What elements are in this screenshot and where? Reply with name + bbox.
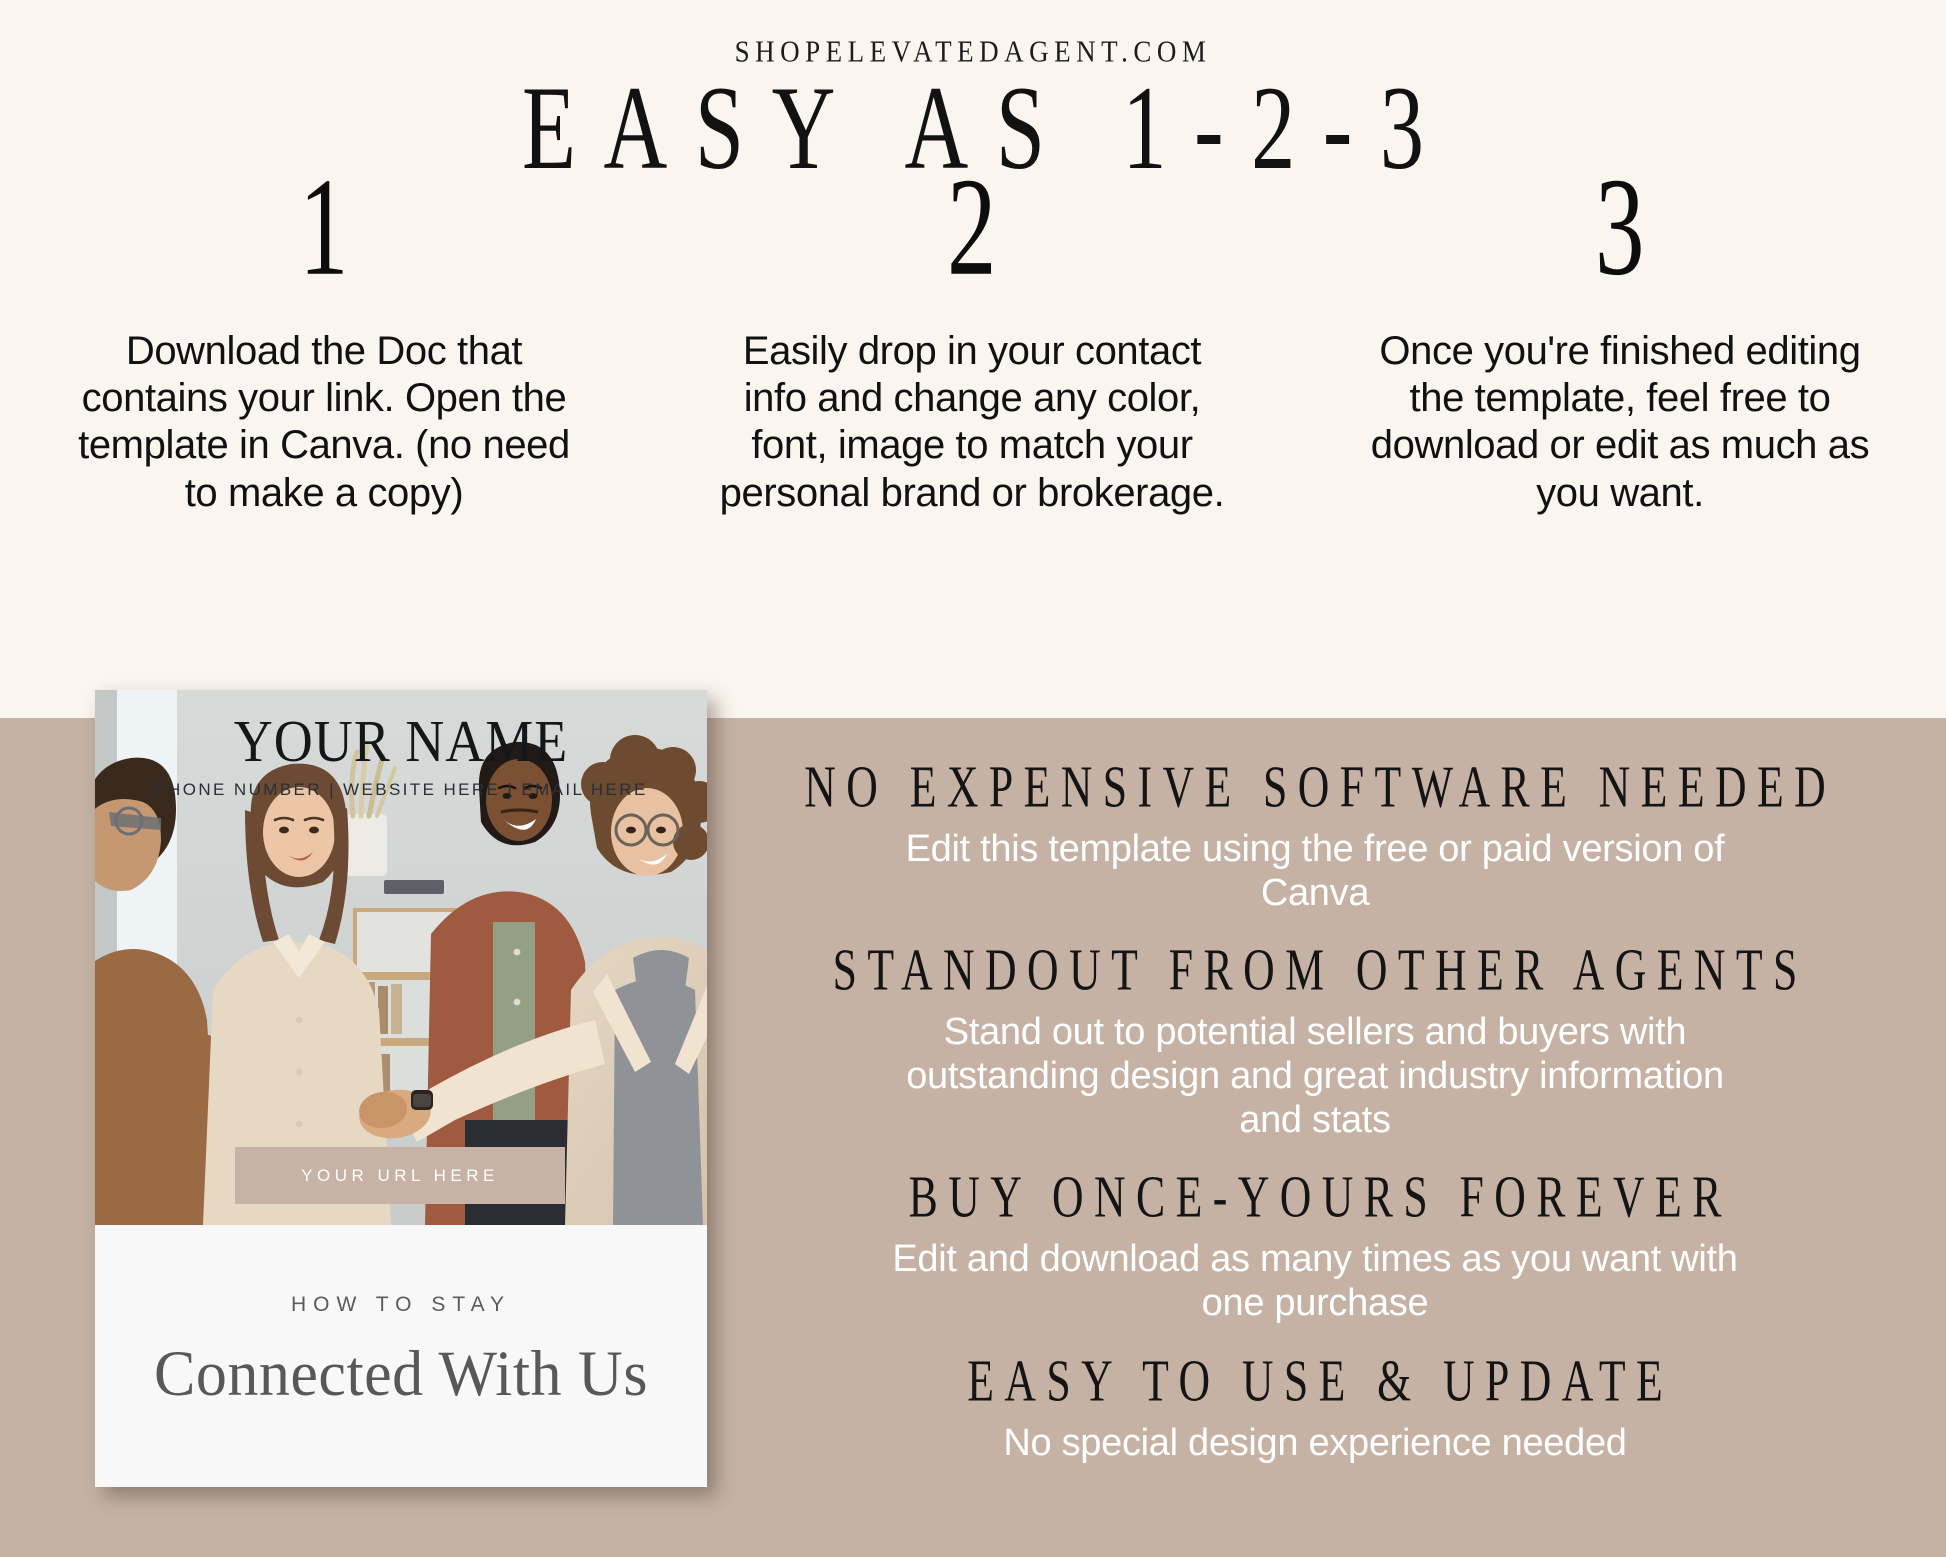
card-lower-panel: HOW TO STAY Connected With Us: [95, 1225, 707, 1487]
step-number-2: 2: [947, 157, 996, 306]
benefit-item-4: EASY TO USE & UPDATE No special design e…: [760, 1354, 1870, 1479]
top-cream-section: SHOPELEVATEDAGENT.COM EASY AS 1-2-3 1 Do…: [0, 0, 1946, 718]
step-number-1: 1: [299, 157, 348, 306]
benefit-body-4: No special design experience needed: [875, 1421, 1755, 1465]
benefit-heading-2: STANDOUT FROM OTHER AGENTS: [788, 935, 1843, 1004]
card-contact-line: PHONE NUMBER | WEBSITE HERE | EMAIL HERE: [95, 780, 707, 800]
card-url-band: YOUR URL HERE: [235, 1147, 565, 1204]
card-eyebrow-text: HOW TO STAY: [291, 1293, 511, 1317]
benefit-heading-4: EASY TO USE & UPDATE: [788, 1346, 1843, 1415]
benefit-heading-1: NO EXPENSIVE SOFTWARE NEEDED: [788, 752, 1843, 821]
benefit-item-2: STANDOUT FROM OTHER AGENTS Stand out to …: [760, 943, 1870, 1156]
benefit-body-1: Edit this template using the free or pai…: [875, 827, 1755, 915]
benefit-body-3: Edit and download as many times as you w…: [875, 1237, 1755, 1325]
step-text-1: Download the Doc that contains your link…: [59, 328, 589, 517]
benefit-item-1: NO EXPENSIVE SOFTWARE NEEDED Edit this t…: [760, 760, 1870, 929]
benefit-body-2: Stand out to potential sellers and buyer…: [875, 1010, 1755, 1142]
template-mockup-card: YOUR NAME PHONE NUMBER | WEBSITE HERE | …: [95, 690, 707, 1487]
card-url-text: YOUR URL HERE: [301, 1166, 499, 1186]
benefit-heading-3: BUY ONCE-YOURS FOREVER: [788, 1162, 1843, 1231]
benefits-list: NO EXPENSIVE SOFTWARE NEEDED Edit this t…: [760, 760, 1870, 1479]
card-headline-text: Connected With Us: [154, 1337, 648, 1412]
step-column-2: 2 Easily drop in your contact info and c…: [648, 170, 1296, 517]
benefit-item-3: BUY ONCE-YOURS FOREVER Edit and download…: [760, 1170, 1870, 1339]
card-your-name: YOUR NAME: [95, 707, 707, 775]
step-number-3: 3: [1595, 157, 1644, 306]
step-column-1: 1 Download the Doc that contains your li…: [0, 170, 648, 517]
step-column-3: 3 Once you're finished editing the templ…: [1296, 170, 1944, 517]
step-text-2: Easily drop in your contact info and cha…: [707, 328, 1237, 517]
steps-row: 1 Download the Doc that contains your li…: [0, 170, 1946, 517]
card-photo: YOUR NAME PHONE NUMBER | WEBSITE HERE | …: [95, 690, 707, 1225]
step-text-3: Once you're finished editing the templat…: [1355, 328, 1885, 517]
